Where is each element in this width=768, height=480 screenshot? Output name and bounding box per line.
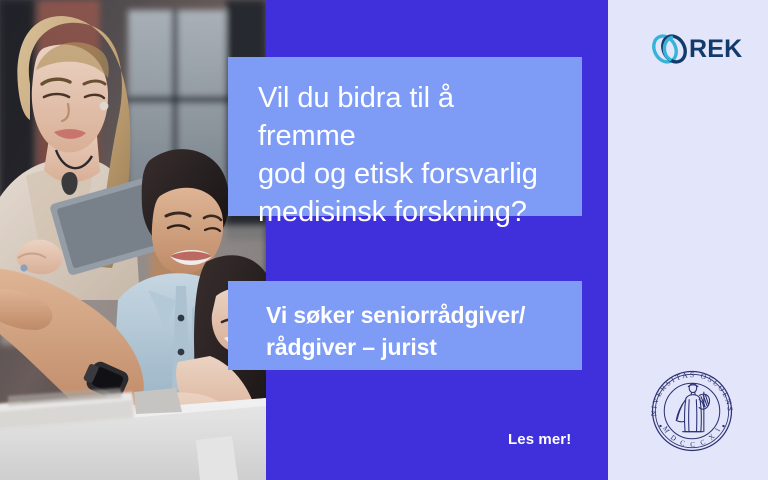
headline-box: Vil du bidra til å fremme god og etisk f… [228, 57, 582, 216]
uio-seal: UNIVERSITAS OSLOENSIS M D C C C X I [645, 364, 739, 458]
photo-illustration [0, 0, 266, 480]
uio-seal-graphic: UNIVERSITAS OSLOENSIS M D C C C X I [645, 364, 739, 458]
team-collaboration-photo [0, 0, 266, 480]
rek-wordmark: REK [689, 35, 742, 64]
headline-text: Vil du bidra til å fremme god og etisk f… [258, 79, 556, 231]
rek-logo[interactable]: REK [648, 26, 740, 72]
interlocking-rings-icon [648, 27, 692, 71]
job-title-box: Vi søker seniorrådgiver/ rådgiver – juri… [228, 281, 582, 370]
recruitment-banner: Vil du bidra til å fremme god og etisk f… [0, 0, 768, 480]
read-more-link[interactable]: Les mer! [508, 431, 571, 448]
apollo-with-lyre-icon [676, 384, 709, 432]
job-title-text: Vi søker seniorrådgiver/ rådgiver – juri… [266, 299, 556, 363]
